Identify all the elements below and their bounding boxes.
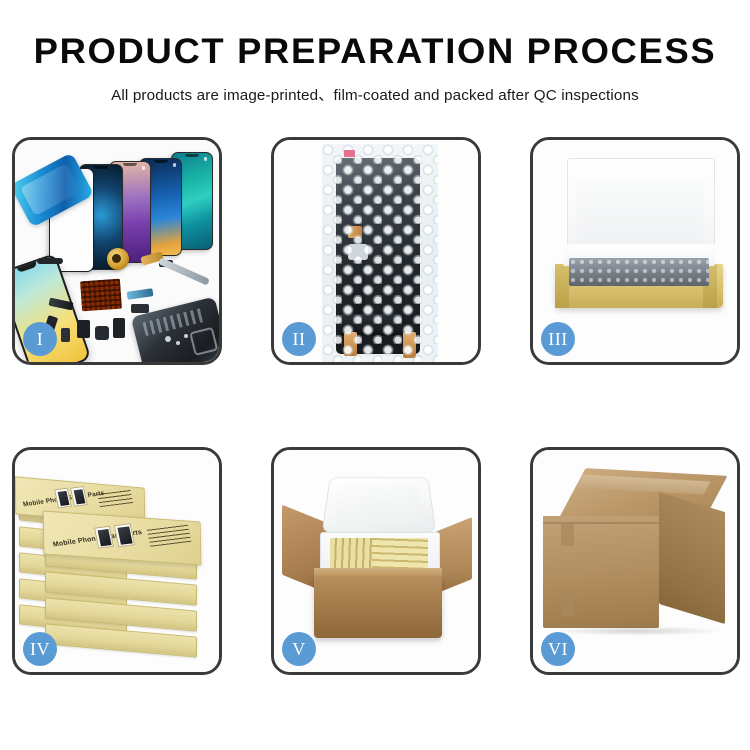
part-camera — [77, 320, 90, 338]
step-panel-5: V — [271, 447, 481, 675]
page-subtitle: All products are image-printed、film-coat… — [0, 83, 750, 105]
box-product-image — [54, 488, 72, 509]
step-badge-3: III — [541, 322, 575, 356]
process-steps-grid: I II III — [12, 137, 740, 675]
foam-lid — [322, 477, 437, 532]
step-panel-6: VI — [530, 447, 740, 675]
step-badge-1: I — [23, 322, 57, 356]
part-socket — [131, 304, 149, 313]
part-strip — [37, 258, 63, 264]
step-panel-1: I — [12, 137, 222, 365]
step-badge-5: V — [282, 632, 316, 666]
bubble-wrap-bag — [322, 144, 438, 362]
page-title: PRODUCT PREPARATION PROCESS — [0, 34, 750, 69]
page-header: PRODUCT PREPARATION PROCESS All products… — [0, 0, 750, 105]
step-panel-3: III — [530, 137, 740, 365]
packing-tape-front-upper — [561, 524, 574, 546]
part-screws — [165, 336, 171, 342]
qc-sticker — [344, 150, 355, 157]
part-module — [113, 318, 125, 338]
speaker-module — [107, 248, 129, 270]
carton-body — [314, 576, 442, 638]
screw-tray — [80, 279, 122, 312]
step-badge-2: II — [282, 322, 316, 356]
box-product-image — [114, 523, 135, 547]
step-panel-2: II — [271, 137, 481, 365]
step-badge-4: IV — [23, 632, 57, 666]
part-button — [95, 326, 109, 340]
step-badge-6: VI — [541, 632, 575, 666]
bubble-wrapped-contents — [569, 258, 709, 286]
carton-shadow — [549, 626, 725, 636]
box-spec-text-lines — [97, 487, 134, 507]
step-panel-4: Mobile Phone Spare Parts Mobile Phone Sp… — [12, 447, 222, 675]
box-product-image — [70, 486, 88, 507]
box-product-image — [94, 526, 114, 549]
carton-side-face — [659, 492, 725, 624]
box-spec-text-lines — [146, 523, 191, 547]
sealed-carton — [543, 472, 729, 636]
part-chip — [61, 328, 70, 342]
packing-tape-front-lower — [561, 594, 574, 616]
bubble-texture — [322, 144, 438, 362]
kraft-box-left-edge — [555, 264, 569, 308]
